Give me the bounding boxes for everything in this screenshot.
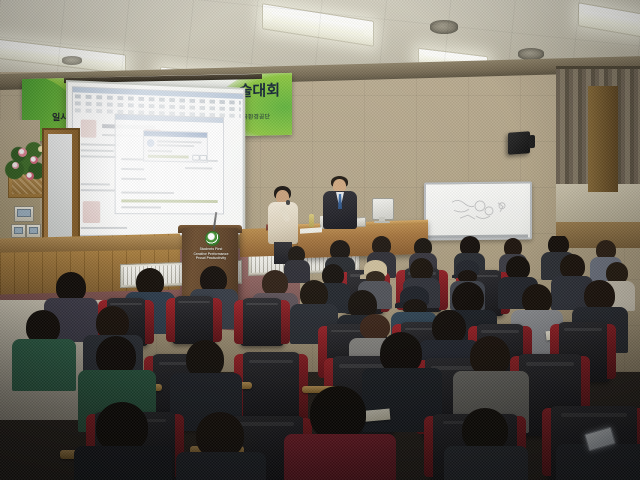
presenter-in-suit — [322, 176, 358, 228]
wall-speaker-icon — [508, 131, 530, 155]
pdf-icon — [81, 119, 97, 137]
install-dialog — [143, 130, 208, 162]
wall-control-panel[interactable] — [14, 206, 34, 222]
monitor-base — [374, 221, 390, 223]
audience-seating — [0, 236, 640, 480]
flower-bloom — [26, 172, 34, 180]
warning-icon — [147, 139, 154, 147]
flower-bloom — [30, 156, 38, 164]
pdf-icon — [83, 201, 101, 223]
flower-bloom — [18, 148, 27, 157]
auditorium-photo: 2 술대회 일시 환경부·한국환경공단 — [0, 0, 640, 480]
whiteboard — [424, 181, 532, 240]
ceiling-vent — [62, 56, 82, 65]
seat[interactable] — [172, 296, 216, 344]
ceiling-light-panel — [578, 2, 640, 38]
water-bottle — [309, 214, 314, 227]
door-frame-right — [588, 86, 618, 192]
adobe-reader-window — [115, 114, 224, 215]
microphone-icon — [286, 200, 290, 205]
ceiling-light-panel — [262, 3, 374, 47]
dialog-button[interactable] — [200, 155, 207, 161]
projected-desktop — [68, 82, 244, 236]
whiteboard-sketch — [448, 194, 512, 227]
ceiling-light-panel — [0, 38, 126, 75]
progress-bar — [148, 155, 189, 159]
door-glass-panel — [48, 134, 72, 240]
seat[interactable] — [240, 298, 284, 346]
projection-screen — [66, 80, 245, 238]
dialog-button[interactable] — [192, 155, 199, 161]
flower-bloom — [12, 162, 19, 169]
ceiling-vent — [430, 20, 458, 34]
progress-bar — [121, 199, 217, 203]
